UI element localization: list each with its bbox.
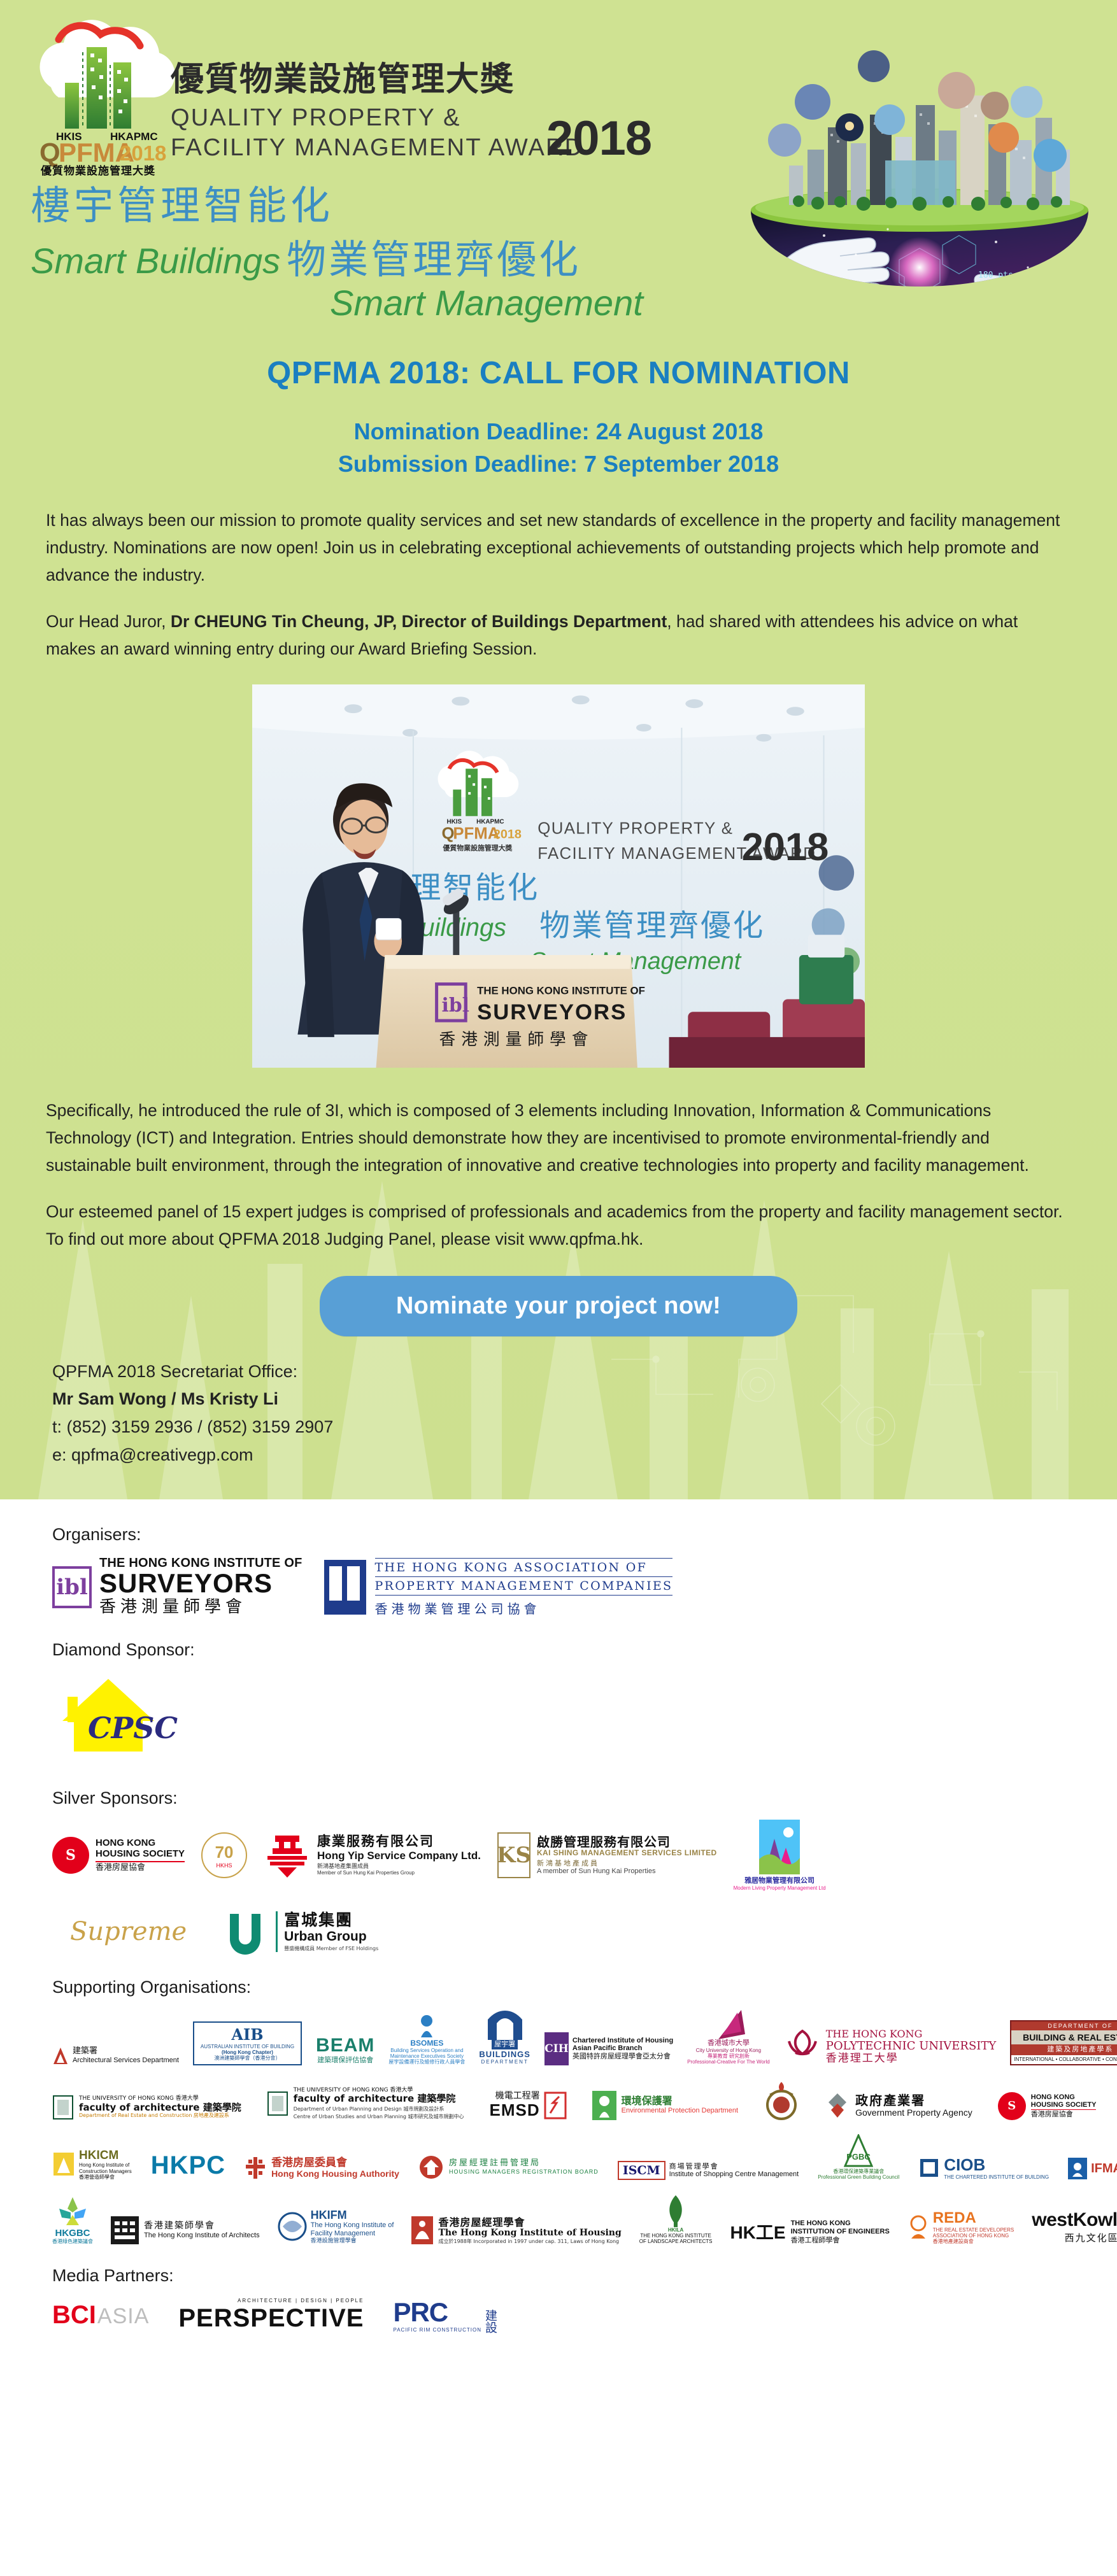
archsd-line2: Architectural Services Department	[73, 2056, 179, 2064]
logo-hkifm[interactable]: HKIFM The Hong Kong Institute of Facilit…	[278, 2209, 394, 2245]
urban-line2: Urban Group	[284, 1929, 378, 1944]
logo-epd[interactable]: 環境保護署 Environmental Protection Departmen…	[592, 2091, 738, 2120]
award-title-chinese: 優質物業設施管理大獎	[171, 60, 744, 99]
hmrb-line1: 房屋經理註冊管理局	[449, 2159, 599, 2169]
supporting-row-2: THE UNIVERSITY OF HONG KONG 香港大學 faculty…	[52, 2079, 1065, 2120]
wk-line1: westKowloon	[1032, 2209, 1117, 2231]
aib-line1: AIB	[201, 2025, 294, 2044]
hkila-line1: HKILA	[668, 2227, 683, 2233]
hongyip-line1: 康業服務有限公司	[317, 1834, 481, 1850]
pgbc-mark-icon: PGBC	[844, 2134, 873, 2169]
logo-hkpc[interactable]: HKPC	[151, 2151, 225, 2180]
emsd-mark-icon	[544, 2091, 567, 2120]
bre-line2: BUILDING & REAL ESTATE	[1011, 2030, 1117, 2044]
ciob-line2: THE CHARTERED INSTITUTE OF BUILDING	[944, 2174, 1049, 2180]
hku-up-line2: faculty of architecture 建築學院	[294, 2093, 464, 2104]
kaishing-mark-icon: KS	[497, 1832, 530, 1878]
logo-hkicm[interactable]: HKICM Hong Kong Institute of Constructio…	[52, 2149, 132, 2180]
deadlines-block: Nomination Deadline: 24 August 2018 Subm…	[0, 415, 1117, 480]
slogan-block: 樓宇管理智能化 Smart Buildings物業管理齊優化 Smart Man…	[0, 185, 1117, 323]
silver-sponsors-label: Silver Sponsors:	[52, 1788, 1065, 1808]
prc-line1: PRC	[393, 2297, 448, 2327]
cityu-line3: City University of Hong Kong	[696, 2048, 761, 2053]
logo-hkie[interactable]: HK工E THE HONG KONG INSTITUTION OF ENGINE…	[730, 2219, 889, 2244]
logo-hmrb[interactable]: 房屋經理註冊管理局 HOUSING MANAGERS REGISTRATION …	[418, 2155, 599, 2180]
qpfma-logo: HKIS HKAPMC Q PFMA 2018 優質物業設施管理大獎	[25, 14, 181, 176]
iscm-line3: Institute of Shopping Centre Management	[669, 2170, 799, 2179]
polyu-line3: 香港理工大學	[826, 2053, 997, 2065]
iscm-line2: 商場管理學會	[669, 2162, 799, 2170]
epd-line1: 環境保護署	[622, 2095, 738, 2107]
hku-re-line2: faculty of architecture 建築學院	[79, 2102, 241, 2113]
secretariat-title: QPFMA 2018 Secretariat Office:	[52, 1358, 1065, 1386]
bsomes-line3: Maintenance Executives Society	[390, 2053, 464, 2059]
logo-hkia[interactable]: 香港建築師學會 The Hong Kong Institute of Archi…	[111, 2216, 260, 2244]
bsomes-line2: Building Services Operation and	[390, 2048, 463, 2053]
logo-hkila[interactable]: HKILA THE HONG KONG INSTITUTE OF LANDSCA…	[639, 2194, 713, 2245]
hkie-line4: 香港工程師學會	[791, 2236, 890, 2244]
call-for-nomination-heading: QPFMA 2018: CALL FOR NOMINATION	[0, 355, 1117, 391]
secretariat-block: QPFMA 2018 Secretariat Office: Mr Sam Wo…	[0, 1358, 1117, 1494]
hku-crest-icon-2	[267, 2091, 288, 2116]
hkia-line1: 香港建築師學會	[144, 2221, 260, 2232]
bre-line1: DEPARTMENT OF	[1011, 2021, 1117, 2030]
paragraph-mission: It has always been our mission to promot…	[46, 507, 1071, 589]
hkifm-line3: Facility Management	[311, 2230, 394, 2238]
logo-reda[interactable]: REDA THE REAL ESTATE DEVELOPERS ASSOCIAT…	[907, 2210, 1014, 2244]
logo-prc[interactable]: PRC PACIFIC RIM CONSTRUCTION 建設	[393, 2297, 496, 2333]
polyu-mark-icon	[784, 2028, 821, 2065]
hongyip-line4: Member of Sun Hung Kai Properties Group	[317, 1870, 481, 1876]
logo-hkhs-supporting[interactable]: S HONG KONG HOUSING SOCIETY 香港房屋協會	[998, 2092, 1097, 2120]
cityu-line5: Professional-Creative For The World	[687, 2059, 770, 2065]
hkhs2-line3: 香港房屋協會	[1031, 2109, 1097, 2118]
logo-building-real-estate[interactable]: DEPARTMENT OF BUILDING & REAL ESTATE 建築及…	[1010, 2020, 1117, 2065]
wk-line2: 西九文化區	[1065, 2231, 1117, 2244]
supporting-row-3: HKICM Hong Kong Institute of Constructio…	[52, 2134, 1065, 2180]
urban-line3: 豐盛機構成員 Member of FSE Holdings	[284, 1946, 378, 1951]
perspective-line1: ARCHITECTURE | DESIGN | PEOPLE	[238, 2298, 364, 2304]
hkis-mark-icon: ibl	[52, 1566, 92, 1608]
svg-text:優質物業設施管理大獎: 優質物業設施管理大獎	[443, 843, 513, 852]
hkifm-line1: HKIFM	[311, 2209, 394, 2221]
hkapmc-line3: 香港物業管理公司協會	[375, 1596, 673, 1617]
logo-aib[interactable]: AIB AUSTRALIAN INSTITUTE OF BUILDING (Ho…	[193, 2021, 302, 2065]
hkih-line2: The Hong Kong Institute of Housing	[438, 2228, 621, 2239]
cpsc-wordmark: CPSC	[88, 1711, 178, 1745]
svg-text:Q: Q	[39, 138, 60, 167]
award-year: 2018	[546, 111, 651, 166]
silver-sponsors-row-2: Supreme 富城集團 Urban Group 豐盛機構成員 Member o…	[52, 1907, 1065, 1956]
logo-hong-yip[interactable]: 康業服務有限公司 Hong Yip Service Company Ltd. 新…	[264, 1833, 481, 1878]
hkhs-line1: HONG KONG	[96, 1838, 185, 1849]
hkis-line2: SURVEYORS	[99, 1570, 302, 1597]
supporting-row-1: 建築署 Architectural Services Department AI…	[52, 2009, 1065, 2065]
hongyip-line2: Hong Yip Service Company Ltd.	[317, 1850, 481, 1862]
logo-iscm[interactable]: ISCM 商場管理學會 Institute of Shopping Centre…	[618, 2161, 799, 2180]
logo-kai-shing[interactable]: KS 啟勝管理服務有限公司 KAI SHING MANAGEMENT SERVI…	[497, 1832, 717, 1878]
slogan-smart-buildings: Smart Buildings	[31, 241, 280, 281]
logo-ciob[interactable]: CIOB THE CHARTERED INSTITUTE OF BUILDING	[918, 2156, 1049, 2180]
bci-line2: ASIA	[97, 2304, 149, 2329]
ciob-line1: CIOB	[944, 2156, 1049, 2174]
diamond-sponsor-row: CPSC	[52, 1671, 1065, 1767]
award-title-english-line1: QUALITY PROPERTY &	[171, 103, 744, 132]
logo-hkapmc[interactable]: THE HONG KONG ASSOCIATION OF PROPERTY MA…	[324, 1558, 673, 1617]
logo-pgbc[interactable]: PGBC 香港環保建築專業議會 Professional Green Build…	[818, 2134, 899, 2180]
briefing-session-photo: HKIS HKAPMC Q PFMA 2018 優質物業設施管理大獎 QUALI…	[250, 682, 867, 1070]
hkifm-line4: 香港設施管理學會	[311, 2238, 394, 2244]
kaishing-line3: 新鴻基地產成員	[537, 1859, 717, 1867]
logo-beam-society[interactable]: BEAM 建築環保評估協會	[316, 2035, 374, 2065]
bsomes-line1: BSOMES	[410, 2039, 443, 2048]
hkifm-mark-icon	[278, 2212, 307, 2241]
hkie-line3: INSTITUTION OF ENGINEERS	[791, 2228, 890, 2236]
hero-section: HKIS HKAPMC Q PFMA 2018 優質物業設施管理大獎 優質物業設…	[0, 0, 1117, 1499]
hku-up-line3: Department of Urban Planning and Design …	[294, 2106, 464, 2112]
aib-line2: AUSTRALIAN INSTITUTE OF BUILDING	[201, 2044, 294, 2049]
hku-crest-icon	[52, 2095, 74, 2120]
supreme-wordmark: Supreme	[70, 1917, 187, 1946]
logo-archsd[interactable]: 建築署 Architectural Services Department	[52, 2046, 179, 2065]
prc-line2: 建設	[484, 2309, 496, 2333]
gpa-mark-icon	[825, 2092, 850, 2120]
polyu-line2: POLYTECHNIC UNIVERSITY	[826, 2040, 997, 2053]
kaishing-line2: KAI SHING MANAGEMENT SERVICES LIMITED	[537, 1849, 717, 1857]
hkie-line1: HK工E	[730, 2219, 785, 2244]
logo-ifma[interactable]: IFMA Hong Kong Chapter International Fac…	[1068, 2157, 1117, 2180]
hkicm-line2: Hong Kong Institute of	[79, 2162, 132, 2168]
hkila-line2: THE HONG KONG INSTITUTE	[640, 2233, 711, 2239]
logo-hku-real-estate[interactable]: THE UNIVERSITY OF HONG KONG 香港大學 faculty…	[52, 2095, 241, 2120]
nominate-project-button[interactable]: Nominate your project now!	[320, 1276, 797, 1336]
qpfma-2018-nomination-flyer: HKIS HKAPMC Q PFMA 2018 優質物業設施管理大獎 優質物業設…	[0, 0, 1117, 2375]
logo-emsd[interactable]: 機電工程署 EMSD	[490, 2091, 567, 2120]
logo-hkih[interactable]: 香港房屋經理學會 The Hong Kong Institute of Hous…	[411, 2216, 621, 2244]
silver-sponsors-row-1: S HONG KONG HOUSING SOCIETY 香港房屋協會 70 HK…	[52, 1820, 1065, 1891]
beam-line1: BEAM	[316, 2035, 374, 2056]
hkih-mark-icon	[411, 2216, 433, 2244]
logo-hong-kong-housing-authority[interactable]: 香港房屋委員會 Hong Kong Housing Authority	[245, 2156, 399, 2180]
svg-text:THE HONG KONG INSTITUTE OF: THE HONG KONG INSTITUTE OF	[477, 984, 645, 996]
hkih-line1: 香港房屋經理學會	[438, 2217, 621, 2228]
logo-hkhs-70th[interactable]: 70 HKHS	[201, 1832, 247, 1878]
svg-text:香港測量師學會: 香港測量師學會	[439, 1030, 594, 1049]
hmrb-line2: HOUSING MANAGERS REGISTRATION BOARD	[449, 2169, 599, 2175]
bre-line3: 建築及房地產學系	[1011, 2044, 1117, 2055]
cih-line2: Chartered Institute of Housing	[573, 2037, 673, 2044]
bci-line1: BCI	[52, 2301, 96, 2330]
cityu-line4: 專業教育 研究創新	[708, 2053, 750, 2059]
cta-wrap: Nominate your project now!	[0, 1276, 1117, 1336]
epd-line2: Environmental Protection Department	[622, 2107, 738, 2115]
buildings-line2: BUILDINGS	[479, 2049, 530, 2059]
kaishing-line1: 啟勝管理服務有限公司	[537, 1835, 717, 1849]
reda-line2: THE REAL ESTATE DEVELOPERS	[933, 2227, 1014, 2233]
gpa-line1: 政府產業署	[855, 2093, 972, 2107]
ifma-mark-icon	[1068, 2158, 1087, 2179]
slogan-line1-chinese: 樓宇管理智能化	[31, 185, 1117, 226]
logo-cih[interactable]: CIH Chartered Institute of Housing Asian…	[544, 2032, 673, 2065]
hku-re-line3: Department of Real Estate and Constructi…	[79, 2112, 241, 2118]
beam-line2: 建築環保評估協會	[317, 2056, 373, 2065]
body-copy-bottom: Specifically, he introduced the rule of …	[0, 1097, 1117, 1253]
modern-living-mark-icon	[759, 1820, 800, 1874]
hkifm-line2: The Hong Kong Institute of	[311, 2221, 394, 2230]
hkih-line3: 成立於1988年 Incorporated in 1997 under cap.…	[438, 2239, 621, 2244]
secretariat-email: e: qpfma@creativegp.com	[52, 1441, 1065, 1469]
modernliving-line1: 雅居物業管理有限公司	[744, 1877, 815, 1885]
fire-services-crest-icon	[764, 2079, 799, 2120]
award-title-block: 優質物業設施管理大獎 QUALITY PROPERTY & FACILITY M…	[171, 60, 744, 162]
svg-text:2018: 2018	[742, 825, 829, 869]
reda-line3: ASSOCIATION OF HONG KONG	[933, 2233, 1014, 2239]
perspective-line2: PERSPECTIVE	[178, 2304, 364, 2333]
organisers-row: ibl THE HONG KONG INSTITUTE OF SURVEYORS…	[52, 1556, 1065, 1618]
hkapmc-mark-icon	[324, 1560, 366, 1615]
media-partners-row: BCI ASIA ARCHITECTURE | DESIGN | PEOPLE …	[52, 2297, 1065, 2333]
juror-name-title: Dr CHEUNG Tin Cheung, JP, Director of Bu…	[171, 612, 667, 631]
logo-hong-kong-housing-society[interactable]: S HONG KONG HOUSING SOCIETY 香港房屋協會	[52, 1837, 185, 1874]
archsd-mark-icon	[52, 2046, 69, 2065]
hkhs-line2: HOUSING SOCIETY	[96, 1849, 185, 1860]
urban-line1: 富城集團	[284, 1911, 378, 1929]
emsd-line2: EMSD	[490, 2101, 540, 2120]
hkha-line1: 香港房屋委員會	[271, 2157, 399, 2169]
slogan-smart-management: Smart Management	[330, 283, 643, 323]
hong-yip-mark-icon	[264, 1833, 311, 1878]
logo-west-kowloon[interactable]: westKowloon 西九文化區	[1032, 2209, 1117, 2244]
cih-line1: CIH	[544, 2042, 569, 2055]
supporting-row-4: HKGBC 香港綠色建築議會 香港建築師學會 The Hong Kong Ins…	[52, 2194, 1065, 2245]
secretariat-tel: t: (852) 3159 2936 / (852) 3159 2907	[52, 1413, 1065, 1441]
hkicm-mark-icon	[52, 2151, 75, 2177]
bsomes-mark-icon	[417, 2014, 436, 2039]
hkicm-line1: HKICM	[79, 2149, 132, 2162]
organisers-label: Organisers:	[52, 1525, 1065, 1545]
award-title-english-line2: FACILITY MANAGEMENT AWARD	[171, 133, 744, 162]
hku-up-line4: Centre of Urban Studies and Urban Planni…	[294, 2114, 464, 2120]
svg-text:ibl: ibl	[442, 994, 469, 1017]
polyu-line1: THE HONG KONG	[826, 2028, 997, 2040]
hkhs-mark-icon: S	[52, 1837, 89, 1874]
svg-text:PGBC: PGBC	[846, 2152, 871, 2162]
logo-buildings-department[interactable]: 屋宇署 BUILDINGS DEPARTMENT	[479, 2009, 530, 2065]
epd-mark-icon	[592, 2091, 616, 2120]
hkia-mark-icon	[111, 2216, 139, 2244]
ciob-crest-icon	[918, 2156, 940, 2179]
modernliving-line2: Modern Living Property Management Ltd	[734, 1885, 826, 1891]
logo-hku-urban-planning[interactable]: THE UNIVERSITY OF HONG KONG 香港大學 faculty…	[267, 2087, 464, 2120]
cityu-mark-icon	[712, 2009, 745, 2039]
diamond-sponsor-label: Diamond Sponsor:	[52, 1640, 1065, 1660]
buildings-line1: 屋宇署	[492, 2040, 518, 2049]
hkhs-mark-icon-2: S	[998, 2092, 1026, 2120]
emsd-line1: 機電工程署	[495, 2091, 540, 2102]
hkhs2-line1: HONG KONG	[1031, 2093, 1097, 2101]
hkis-line3: 香港測量師學會	[99, 1597, 302, 1618]
logo-fire-services-department[interactable]	[764, 2079, 799, 2120]
svg-text:優質物業設施管理大獎: 優質物業設施管理大獎	[40, 164, 155, 176]
slogan-line2-chinese: 物業管理齊優化	[287, 236, 581, 283]
hkpc-wordmark: HKPC	[151, 2151, 225, 2180]
bsomes-line4: 屋宇設備運行及維修行政人員學會	[388, 2059, 465, 2065]
aib-line3: (Hong Kong Chapter)	[201, 2049, 294, 2055]
archsd-line1: 建築署	[73, 2047, 179, 2056]
logo-cpsc[interactable]: CPSC	[52, 1671, 186, 1767]
logo-hkis[interactable]: ibl THE HONG KONG INSTITUTE OF SURVEYORS…	[52, 1556, 302, 1618]
bre-line4: INTERNATIONAL • COLLABORATIVE • CONSTRUC…	[1011, 2055, 1117, 2063]
reda-line1: REDA	[933, 2210, 1014, 2227]
hkicm-line4: 香港營造師學會	[79, 2174, 132, 2180]
aib-line4: 澳洲建築師學會（香港分會）	[201, 2055, 294, 2061]
body-copy-top: It has always been our mission to promot…	[0, 507, 1117, 663]
hkha-line2: Hong Kong Housing Authority	[271, 2169, 399, 2179]
svg-text:2018: 2018	[494, 827, 522, 841]
hmrb-mark-icon	[418, 2155, 444, 2180]
logo-bci-asia[interactable]: BCI ASIA	[52, 2301, 149, 2330]
hkicm-line3: Construction Managers	[79, 2169, 132, 2174]
hkgbc-mark-icon	[58, 2196, 87, 2228]
logo-supreme[interactable]: Supreme	[52, 1917, 204, 1946]
juror-text-pre: Our Head Juror,	[46, 612, 171, 631]
logo-hkgbc[interactable]: HKGBC 香港綠色建築議會	[52, 2196, 93, 2244]
hkhs70-number: 70	[215, 1843, 234, 1862]
hkgbc-line2: 香港綠色建築議會	[52, 2239, 93, 2244]
ifma-line1: IFMA	[1091, 2162, 1117, 2176]
pgbc-line2: 香港環保建築專業議會	[833, 2169, 884, 2174]
briefing-photo-wrap: HKIS HKAPMC Q PFMA 2018 優質物業設施管理大獎 QUALI…	[0, 682, 1117, 1070]
hkha-mark-icon	[245, 2156, 266, 2180]
hkila-line3: OF LANDSCAPE ARCHITECTS	[639, 2239, 713, 2244]
logo-perspective[interactable]: ARCHITECTURE | DESIGN | PEOPLE PERSPECTI…	[178, 2298, 364, 2332]
reda-line4: 香港地產建設商會	[933, 2239, 1014, 2244]
logo-gpa[interactable]: 政府產業署 Government Property Agency	[825, 2092, 972, 2120]
svg-text:SURVEYORS: SURVEYORS	[477, 1000, 627, 1024]
svg-text:2018: 2018	[120, 141, 166, 165]
kaishing-line4: A member of Sun Hung Kai Properties	[537, 1867, 717, 1876]
hkhs-line3: 香港房屋協會	[96, 1861, 185, 1873]
buildings-line3: DEPARTMENT	[481, 2059, 528, 2065]
hkhs2-line2: HOUSING SOCIETY	[1031, 2101, 1097, 2109]
iscm-line1: ISCM	[618, 2161, 665, 2180]
hkia-line2: The Hong Kong Institute of Architects	[144, 2232, 260, 2240]
prc-line3: PACIFIC RIM CONSTRUCTION	[393, 2327, 481, 2333]
hkhs70-sub: HKHS	[217, 1862, 232, 1869]
cih-line3: Asian Pacific Branch	[573, 2044, 673, 2052]
logo-urban-group[interactable]: 富城集團 Urban Group 豐盛機構成員 Member of FSE Ho…	[221, 1907, 378, 1956]
logo-cityu[interactable]: 香港城市大學 City University of Hong Kong 專業教育…	[687, 2009, 770, 2065]
logo-polyu[interactable]: THE HONG KONG POLYTECHNIC UNIVERSITY 香港理…	[784, 2028, 997, 2065]
hkgbc-line1: HKGBC	[55, 2228, 90, 2239]
paragraph-head-juror: Our Head Juror, Dr CHEUNG Tin Cheung, JP…	[46, 608, 1071, 663]
secretariat-names: Mr Sam Wong / Ms Kristy Li	[52, 1385, 1065, 1413]
svg-text:物業管理齊優化: 物業管理齊優化	[539, 909, 765, 944]
gpa-line2: Government Property Agency	[855, 2108, 972, 2118]
hkie-line2: THE HONG KONG	[791, 2219, 890, 2228]
cih-line4: 英國特許房屋經理學會亞太分會	[573, 2052, 673, 2060]
reda-mark-icon	[907, 2214, 929, 2240]
logo-bsomes[interactable]: BSOMES Building Services Operation and M…	[388, 2014, 465, 2065]
hkapmc-line1: THE HONG KONG ASSOCIATION OF	[375, 1558, 673, 1577]
paragraph-rule-of-3i: Specifically, he introduced the rule of …	[46, 1097, 1071, 1179]
svg-text:PFMA: PFMA	[453, 824, 499, 842]
supporting-organisations-label: Supporting Organisations:	[52, 1978, 1065, 1997]
urban-group-mark-icon	[221, 1907, 269, 1956]
submission-deadline: Submission Deadline: 7 September 2018	[0, 448, 1117, 480]
hkila-mark-icon	[660, 2194, 692, 2227]
hongyip-line3: 新鴻基地產集團成員	[317, 1864, 481, 1870]
sponsors-section: Organisers: ibl THE HONG KONG INSTITUTE …	[0, 1499, 1117, 2375]
paragraph-judging-panel: Our esteemed panel of 15 expert judges i…	[46, 1198, 1071, 1253]
media-partners-label: Media Partners:	[52, 2266, 1065, 2286]
cityu-line2: 香港城市大學	[708, 2039, 750, 2048]
nomination-deadline: Nomination Deadline: 24 August 2018	[0, 415, 1117, 448]
pgbc-line3: Professional Green Building Council	[818, 2174, 899, 2180]
buildings-dept-mark-icon	[485, 2009, 525, 2040]
svg-text:QUALITY PROPERTY &: QUALITY PROPERTY &	[537, 819, 733, 837]
logo-modern-living[interactable]: 雅居物業管理有限公司 Modern Living Property Manage…	[734, 1820, 826, 1891]
hkapmc-line2: PROPERTY MANAGEMENT COMPANIES	[375, 1577, 673, 1596]
